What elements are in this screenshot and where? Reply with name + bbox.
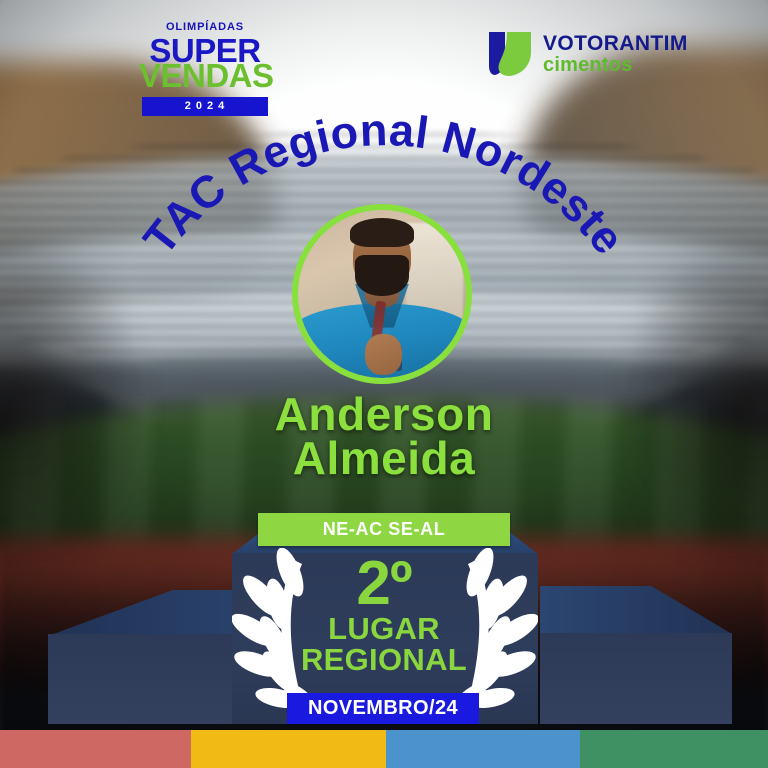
brand-logo: VOTORANTIM cimentos xyxy=(487,30,688,78)
place-line1: LUGAR xyxy=(0,613,768,645)
month-badge: NOVEMBRO/24 xyxy=(287,693,479,724)
footer-color-bar xyxy=(0,730,768,768)
winner-first-name: Anderson xyxy=(0,392,768,436)
brand-name-top: VOTORANTIM xyxy=(543,33,688,54)
footer-segment-yellow xyxy=(191,730,385,768)
region-banner: NE-AC SE-AL xyxy=(258,513,510,546)
footer-segment-green xyxy=(580,730,768,768)
winner-last-name: Almeida xyxy=(0,436,768,480)
footer-segment-blue xyxy=(386,730,580,768)
place-label: 2º LUGAR REGIONAL xyxy=(0,556,768,676)
votorantim-v-mark-icon xyxy=(487,30,534,78)
campaign-logo-line2: VENDAS xyxy=(139,59,271,92)
brand-name-bottom: cimentos xyxy=(543,55,688,75)
award-poster: OLIMPÍADAS SUPER VENDAS 2024 VOTORANTIM … xyxy=(0,0,768,768)
footer-segment-red xyxy=(0,730,191,768)
avatar-beard xyxy=(355,255,409,295)
brand-logo-text: VOTORANTIM cimentos xyxy=(543,33,688,76)
winner-name: Anderson Almeida xyxy=(0,392,768,480)
place-number: 2º xyxy=(0,556,768,612)
avatar-hair xyxy=(350,218,414,247)
avatar xyxy=(292,204,472,384)
place-line2: REGIONAL xyxy=(0,644,768,676)
avatar-photo xyxy=(298,210,466,378)
avatar-hand xyxy=(365,334,402,374)
